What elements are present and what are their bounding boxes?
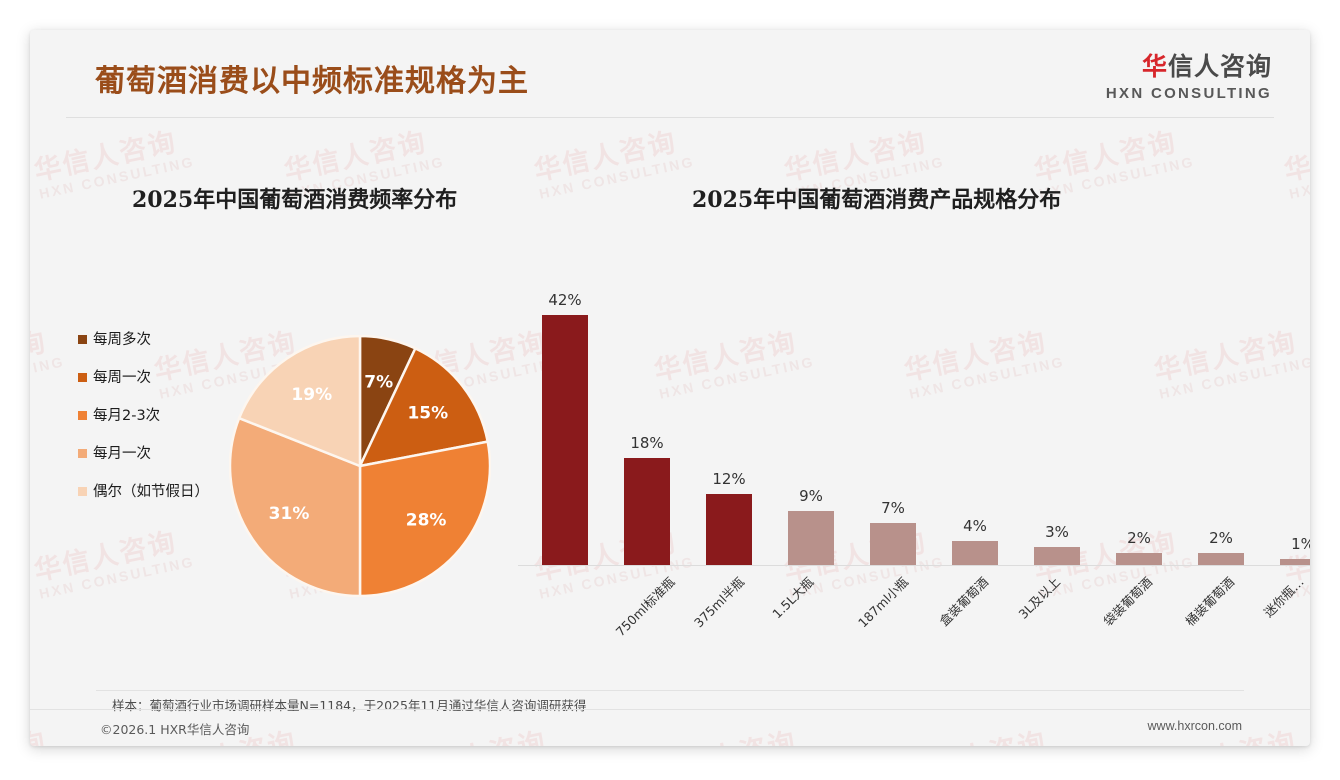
legend-item-4[interactable]: 偶尔（如节假日）: [78, 482, 208, 503]
pie-slice-value-label: 19%: [291, 385, 332, 405]
logo-rest-chars: 信人咨询: [1168, 52, 1272, 81]
watermark-chinese: 华信人咨询: [1030, 117, 1193, 188]
footer-copyright: ©2026.1 HXR华信人咨询: [100, 719, 249, 738]
bar-category-label: 1.5L大瓶: [767, 572, 817, 622]
pie-legend: 每周多次每周一次每月2-3次每月一次偶尔（如节假日）: [78, 330, 208, 520]
bar-category-label: 750ml标准瓶: [611, 572, 679, 640]
pie-chart-title: 2025年中国葡萄酒消费频率分布: [132, 182, 457, 214]
pie-slice-value-label: 7%: [364, 372, 393, 392]
pie-slice-value-label: 31%: [269, 504, 310, 524]
footer-website[interactable]: www.hxrcon.com: [1148, 719, 1242, 733]
watermark-tile: 华信人咨询HXN CONSULTING: [30, 517, 196, 602]
bar-column-4[interactable]: 7%: [870, 271, 916, 565]
legend-item-label: 每周多次: [93, 330, 151, 351]
pie-slice-value-label: 15%: [407, 403, 448, 423]
bar-category-label: 袋装葡萄酒: [1098, 572, 1156, 630]
watermark-english: HXN CONSULTING: [38, 553, 196, 602]
legend-item-label: 每月2-3次: [93, 406, 160, 427]
bar-rect[interactable]: [1034, 547, 1080, 565]
bar-category-label: 375ml半瓶: [689, 572, 748, 631]
bar-rect[interactable]: [1198, 553, 1244, 565]
bar-category-label: 桶装葡萄酒: [1180, 572, 1238, 630]
bar-column-0[interactable]: 42%: [542, 271, 588, 565]
watermark-english: HXN CONSULTING: [1038, 153, 1196, 202]
bar-value-label: 7%: [870, 499, 916, 517]
watermark-tile: 华信人咨询HXN CONSULTING: [1280, 117, 1310, 202]
legend-swatch-icon: [78, 373, 87, 382]
watermark-chinese: 华信人咨询: [530, 117, 693, 188]
legend-item-label: 偶尔（如节假日）: [93, 482, 208, 503]
pie-chart: 7%15%28%31%19%: [229, 335, 491, 597]
logo-english-text: HXN CONSULTING: [1106, 85, 1272, 102]
bar-plot-area: 42%18%12%9%7%4%3%2%2%1%: [510, 270, 1310, 566]
watermark-chinese: 华信人咨询: [280, 117, 443, 188]
watermark-chinese: 华信人咨询: [780, 117, 943, 188]
bar-value-label: 3%: [1034, 523, 1080, 541]
logo-accent-char: 华: [1142, 52, 1168, 81]
header-divider: [66, 117, 1274, 118]
pie-slices: [230, 336, 490, 596]
watermark-chinese: 华信人咨询: [30, 117, 193, 188]
bar-chart-axis-line: [518, 565, 1310, 566]
bar-value-label: 18%: [624, 434, 670, 452]
pie-slice-value-label: 28%: [406, 511, 447, 531]
legend-swatch-icon: [78, 411, 87, 420]
watermark-chinese: 华信人咨询: [1280, 117, 1310, 188]
bar-column-1[interactable]: 18%: [624, 271, 670, 565]
bar-value-label: 12%: [706, 470, 752, 488]
bar-column-2[interactable]: 12%: [706, 271, 752, 565]
bar-rect[interactable]: [1116, 553, 1162, 565]
legend-swatch-icon: [78, 449, 87, 458]
bar-rect[interactable]: [952, 541, 998, 565]
bar-chart-title: 2025年中国葡萄酒消费产品规格分布: [692, 182, 1061, 214]
watermark-chinese: 华信人咨询: [30, 517, 193, 588]
bar-column-3[interactable]: 9%: [788, 271, 834, 565]
bar-category-label: 187ml小瓶: [853, 572, 912, 631]
footnote-divider: [96, 690, 1244, 691]
bar-value-label: 4%: [952, 517, 998, 535]
company-logo: 华信人咨询 HXN CONSULTING: [1106, 47, 1272, 102]
bar-chart: 42%18%12%9%7%4%3%2%2%1% 750ml标准瓶375ml半瓶1…: [510, 270, 1310, 670]
legend-item-3[interactable]: 每月一次: [78, 444, 208, 465]
legend-item-0[interactable]: 每周多次: [78, 330, 208, 351]
bar-value-label: 9%: [788, 487, 834, 505]
legend-swatch-icon: [78, 487, 87, 496]
watermark-tile: 华信人咨询HXN CONSULTING: [530, 117, 696, 202]
bar-rect[interactable]: [870, 523, 916, 565]
bar-value-label: 1%: [1280, 535, 1310, 553]
watermark-english: HXN CONSULTING: [1288, 153, 1310, 202]
bar-column-5[interactable]: 4%: [952, 271, 998, 565]
bar-rect[interactable]: [788, 511, 834, 565]
bar-category-label: 迷你瓶…: [1259, 572, 1308, 621]
bar-rect[interactable]: [624, 458, 670, 565]
bar-column-7[interactable]: 2%: [1116, 271, 1162, 565]
bar-column-8[interactable]: 2%: [1198, 271, 1244, 565]
bar-rect[interactable]: [542, 315, 588, 565]
bar-category-label: 盒装葡萄酒: [934, 572, 992, 630]
watermark-chinese: 华信人咨询: [30, 317, 63, 388]
bar-value-label: 2%: [1116, 529, 1162, 547]
legend-item-1[interactable]: 每周一次: [78, 368, 208, 389]
legend-swatch-icon: [78, 335, 87, 344]
slide-footer: ©2026.1 HXR华信人咨询 www.hxrcon.com: [30, 709, 1310, 746]
bar-column-9[interactable]: 1%: [1280, 271, 1310, 565]
legend-item-2[interactable]: 每月2-3次: [78, 406, 208, 427]
legend-item-label: 每周一次: [93, 368, 151, 389]
watermark-english: HXN CONSULTING: [538, 153, 696, 202]
bar-category-label: 3L及以上: [1013, 572, 1064, 623]
bar-column-6[interactable]: 3%: [1034, 271, 1080, 565]
slide-card: 华信人咨询HXN CONSULTING华信人咨询HXN CONSULTING华信…: [30, 30, 1310, 746]
watermark-english: HXN CONSULTING: [30, 353, 66, 402]
logo-chinese-text: 华信人咨询: [1106, 47, 1272, 83]
bar-value-label: 42%: [542, 291, 588, 309]
bar-rect[interactable]: [706, 494, 752, 565]
legend-item-label: 每月一次: [93, 444, 151, 465]
watermark-tile: 华信人咨询HXN CONSULTING: [30, 317, 66, 402]
pie-chart-svg: 7%15%28%31%19%: [229, 335, 491, 597]
slide-header: 葡萄酒消费以中频标准规格为主 华信人咨询 HXN CONSULTING: [30, 30, 1310, 118]
bar-value-label: 2%: [1198, 529, 1244, 547]
page-title: 葡萄酒消费以中频标准规格为主: [95, 56, 529, 100]
